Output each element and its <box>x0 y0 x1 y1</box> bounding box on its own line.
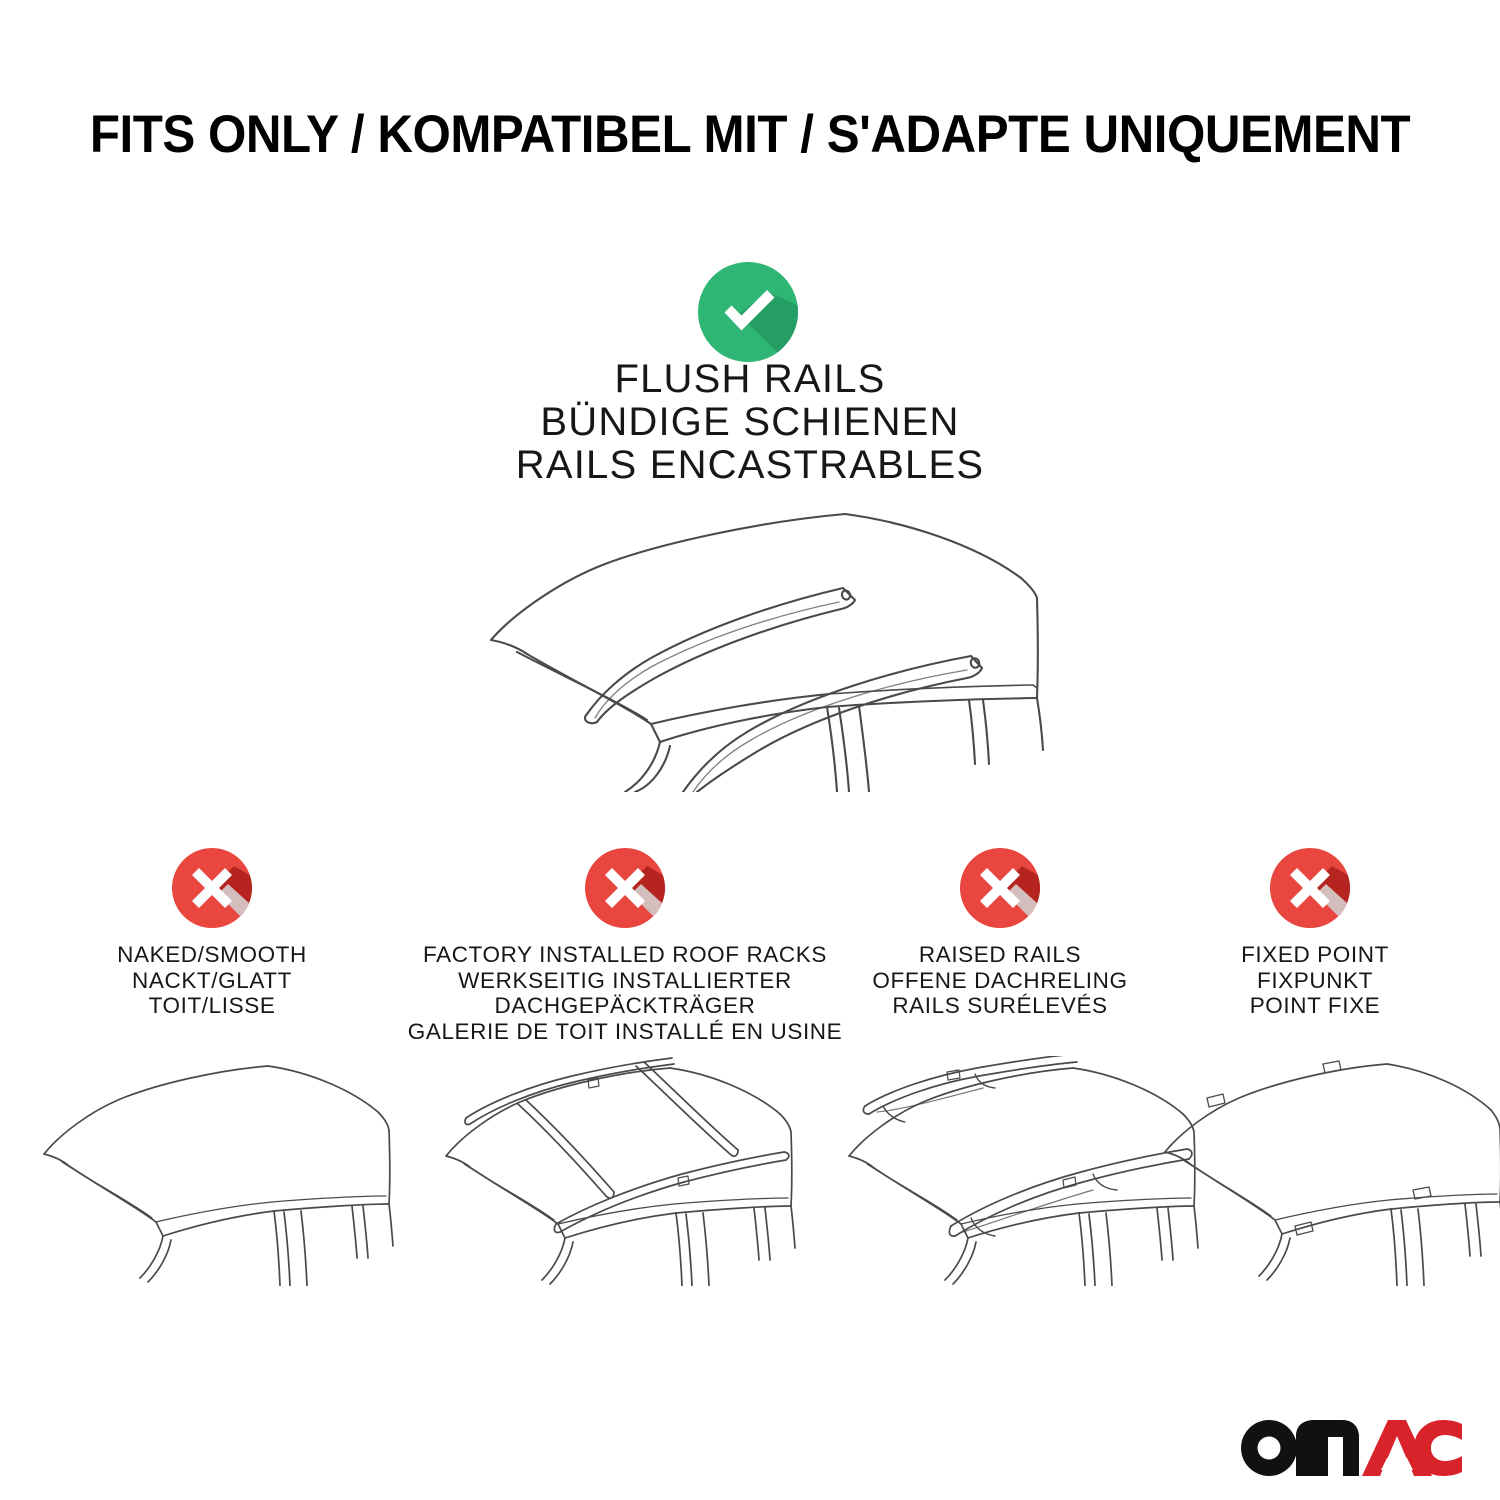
option-factory-installed-roof-racks: FACTORY INSTALLED ROOF RACKS WERKSEITIG … <box>400 848 850 1288</box>
caption-line-fr: RAILS SURÉLEVÉS <box>840 993 1160 1019</box>
compatible-line-en: FLUSH RAILS <box>0 358 1500 401</box>
caption-line-fr: TOIT/LISSE <box>42 993 382 1019</box>
caption-line-en: RAISED RAILS <box>840 942 1160 968</box>
x-circle-icon <box>172 848 252 928</box>
option-naked-smooth: NAKED/SMOOTH NACKT/GLATT TOIT/LISSE <box>42 848 382 1288</box>
caption-line-en: NAKED/SMOOTH <box>42 942 382 968</box>
caption-line-en: FACTORY INSTALLED ROOF RACKS <box>400 942 850 968</box>
caption-line-fr: GALERIE DE TOIT INSTALLÉ EN USINE <box>400 1019 850 1045</box>
option-fixed-point: FIXED POINT FIXPUNKT POINT FIXE <box>1155 848 1475 1288</box>
incompatible-options-row: NAKED/SMOOTH NACKT/GLATT TOIT/LISSE <box>0 848 1500 1288</box>
x-circle-icon <box>1270 848 1350 928</box>
car-roof-bare-illustration <box>22 1056 402 1291</box>
caption-line-de-2: DACHGEPÄCKTRÄGER <box>400 993 850 1019</box>
option-raised-rails: RAISED RAILS OFFENE DACHRELING RAILS SUR… <box>840 848 1160 1288</box>
page-title: FITS ONLY / KOMPATIBEL MIT / S'ADAPTE UN… <box>53 104 1448 165</box>
check-circle-icon <box>698 262 798 362</box>
car-roof-with-fixed-points-illustration <box>1145 1056 1500 1291</box>
option-caption: RAISED RAILS OFFENE DACHRELING RAILS SUR… <box>840 942 1160 1019</box>
caption-line-de: NACKT/GLATT <box>42 968 382 994</box>
caption-line-fr: POINT FIXE <box>1155 993 1475 1019</box>
x-circle-icon <box>960 848 1040 928</box>
compatible-line-fr: RAILS ENCASTRABLES <box>0 444 1500 487</box>
option-caption: FACTORY INSTALLED ROOF RACKS WERKSEITIG … <box>400 942 850 1044</box>
caption-line-de: FIXPUNKT <box>1155 968 1475 994</box>
omac-logo <box>1238 1412 1462 1478</box>
caption-line-de-1: WERKSEITIG INSTALLIERTER <box>400 968 850 994</box>
option-caption: NAKED/SMOOTH NACKT/GLATT TOIT/LISSE <box>42 942 382 1019</box>
car-roof-with-crossbars-illustration <box>420 1056 810 1291</box>
caption-line-de: OFFENE DACHRELING <box>840 968 1160 994</box>
compatible-heading: FLUSH RAILS BÜNDIGE SCHIENEN RAILS ENCAS… <box>0 358 1500 487</box>
x-circle-icon <box>585 848 665 928</box>
car-roof-with-flush-rails-illustration <box>455 492 1055 792</box>
compatible-line-de: BÜNDIGE SCHIENEN <box>0 401 1500 444</box>
caption-line-en: FIXED POINT <box>1155 942 1475 968</box>
option-caption: FIXED POINT FIXPUNKT POINT FIXE <box>1155 942 1475 1019</box>
